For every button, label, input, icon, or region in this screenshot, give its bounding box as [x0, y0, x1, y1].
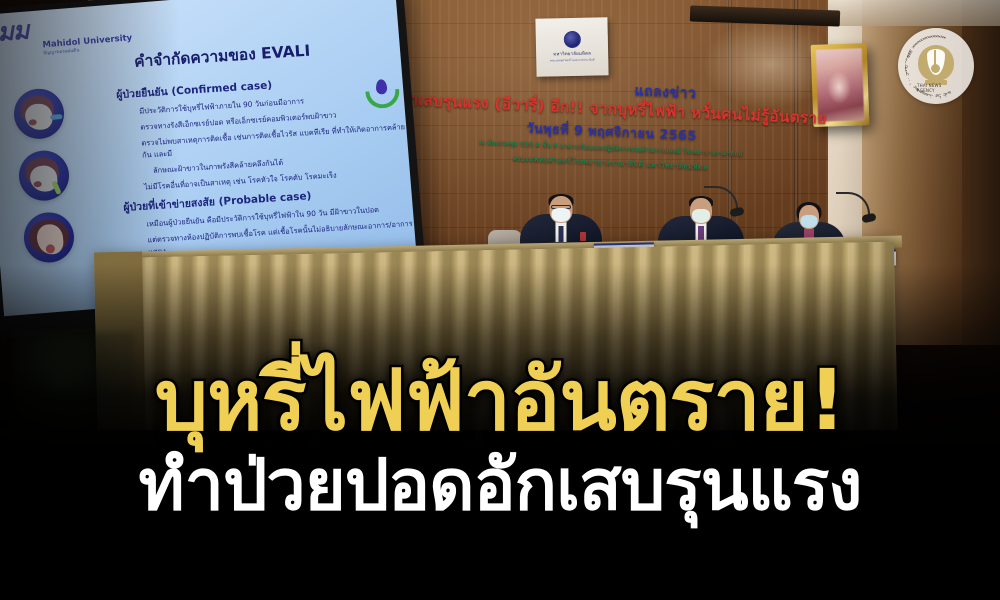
university-seal-icon — [563, 31, 580, 48]
face-mask — [552, 208, 571, 222]
panel-table-skirt — [94, 242, 898, 459]
portrait-image — [816, 48, 864, 122]
news-thumbnail-image: มหาวิทยาลัยมหิดล คณะแพทยศาสตร์โรงพยาบาลร… — [0, 0, 1000, 600]
pen-nib-icon — [916, 44, 956, 88]
wall-sign-title: มหาวิทยาลัยมหิดล — [553, 50, 591, 58]
mahidol-logo-name: Mahidol University — [42, 31, 148, 49]
slide-title: คำจำกัดความของ EVALI — [133, 32, 404, 74]
wall-sign-subtitle: คณะแพทยศาสตร์โรงพยาบาลรามาธิบดี — [550, 59, 594, 64]
slide-avatar-group — [12, 87, 77, 276]
person-coughing-2-icon — [22, 211, 76, 265]
framed-portrait — [811, 43, 870, 127]
slide-bullet: เหมือนผู้ป่วยยืนยัน คือมีประวัติการใช้บุ… — [146, 202, 414, 231]
watermark-foot-text: THAI NEWS AGENCY — [917, 83, 955, 93]
slide-bullet: ลักษณะฝ้าขาวในภาพรังสีคล้ายคลึงกันได้ — [153, 149, 411, 177]
slide-bullet: ผู้ป่วยที่เข้าข่ายสงสัย (Probable case) — [123, 181, 413, 216]
ramathibodi-mark-icon — [364, 78, 401, 115]
slide-bullet: ตรวจไม่พบสาเหตุการติดเชื้อ เช่นการติดเชื… — [141, 121, 410, 162]
wall-sign-mahidol: มหาวิทยาลัยมหิดล คณะแพทยศาสตร์โรงพยาบาลร… — [535, 17, 608, 76]
agency-watermark: สำนักข่าวออนไลน์ : http://www.xxxxxxxxxx… — [898, 28, 974, 104]
slide-logo: มม Mahidol University ปัญญาของแผ่นดิน — [0, 10, 149, 60]
lapel-badge — [580, 232, 586, 241]
mahidol-logo-sub: ปัญญาของแผ่นดิน — [43, 41, 149, 56]
person-vaping-icon — [17, 149, 71, 203]
person-coughing-icon — [12, 87, 66, 141]
slide-bullet: ผู้ป่วยยืนยัน (Confirmed case) — [116, 68, 406, 103]
slide-bullet: ตรวจทางรังสีเอ็กซเรย์ปอด หรือเอ็กซเรย์คอ… — [140, 105, 408, 134]
slide-bullet: ไม่มีโรคอื่นที่อาจเป็นสาเหตุ เช่น โรคหัว… — [144, 165, 412, 194]
slide-bullet: มีประวัติการใช้บุหรี่ไฟฟ้าภายใน 90 วันก่… — [139, 89, 407, 118]
floor — [0, 430, 1000, 600]
mahidol-logo-mark: มม — [0, 10, 148, 44]
face-mask — [801, 215, 818, 228]
